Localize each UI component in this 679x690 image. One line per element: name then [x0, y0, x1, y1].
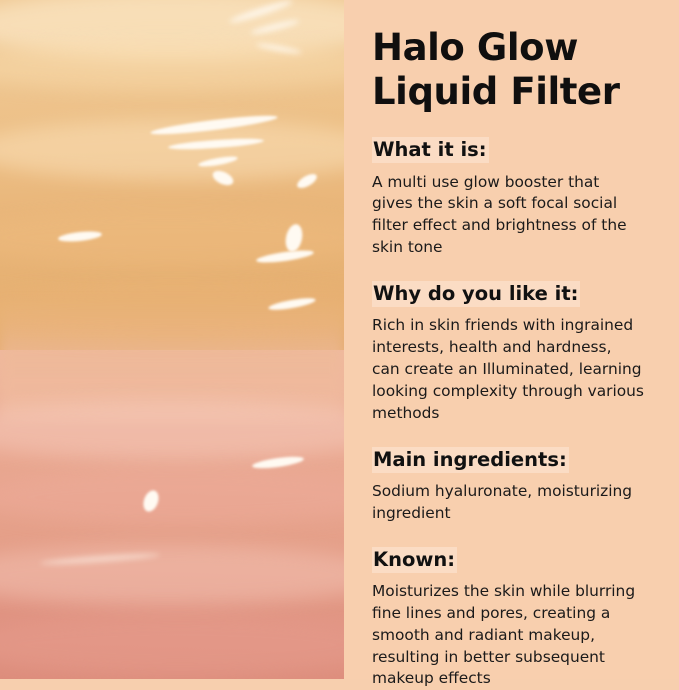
section-heading-known: Known: [372, 547, 457, 573]
section-body-what-it-is: A multi use glow booster that gives the … [372, 172, 653, 260]
title-line-2: Liquid Filter [372, 70, 653, 114]
page-title: Halo Glow Liquid Filter [372, 26, 653, 113]
swatch-blend-overlay [0, 300, 344, 420]
section-heading-what-it-is: What it is: [372, 137, 489, 163]
section-heading-why-do-you-like-it: Why do you like it: [372, 281, 580, 307]
title-line-1: Halo Glow [372, 26, 578, 69]
section-what-it-is: What it is: A multi use glow booster tha… [372, 135, 653, 259]
section-main-ingredients: Main ingredients: Sodium hyaluronate, mo… [372, 445, 653, 525]
section-body-why-do-you-like-it: Rich in skin friends with ingrained inte… [372, 315, 653, 424]
section-body-known: Moisturizes the skin while blurring fine… [372, 581, 653, 690]
product-description-panel: Halo Glow Liquid Filter What it is: A mu… [344, 0, 679, 679]
section-why-do-you-like-it: Why do you like it: Rich in skin friends… [372, 279, 653, 425]
product-infographic: Halo Glow Liquid Filter What it is: A mu… [0, 0, 679, 679]
section-body-main-ingredients: Sodium hyaluronate, moisturizing ingredi… [372, 481, 653, 525]
section-known: Known: Moisturizes the skin while blurri… [372, 545, 653, 690]
liquid-highlighter-swatch-photo [0, 0, 344, 679]
section-heading-main-ingredients: Main ingredients: [372, 447, 569, 473]
